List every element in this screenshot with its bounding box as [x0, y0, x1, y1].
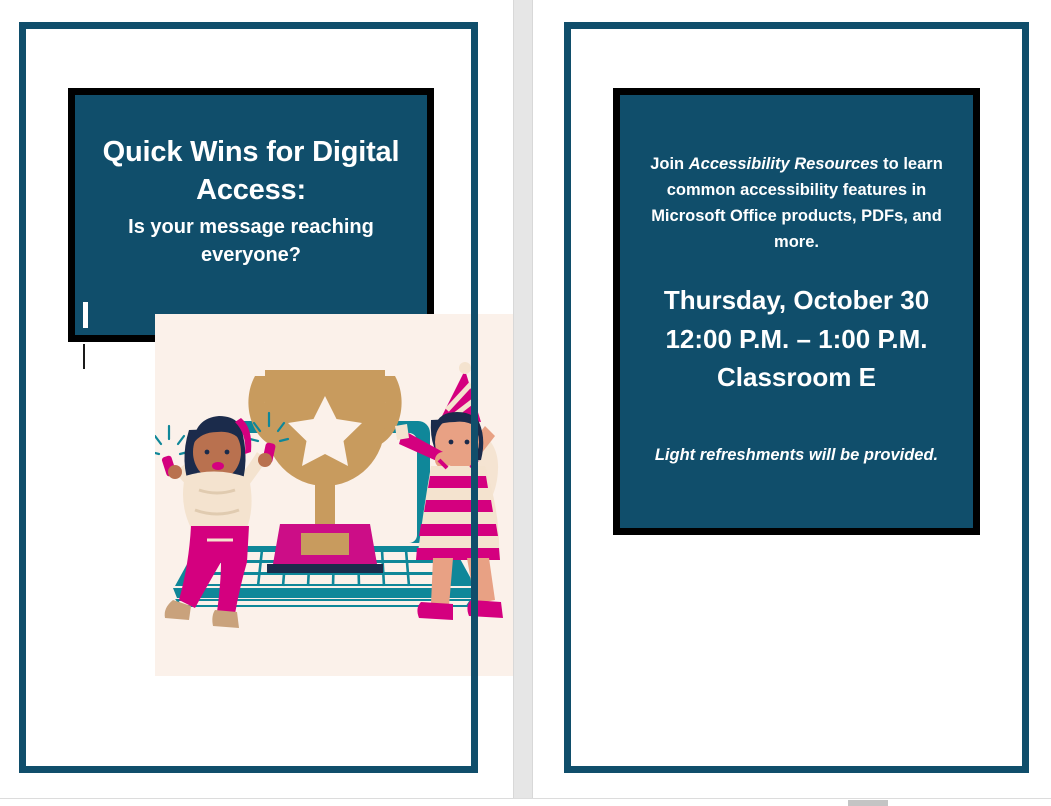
title-heading: Quick Wins for Digital Access:	[89, 133, 413, 211]
text-caret-in-title	[83, 302, 88, 328]
page-left[interactable]: Quick Wins for Digital Access: Is your m…	[0, 0, 513, 798]
celebration-illustration[interactable]	[155, 314, 513, 676]
title-text-block[interactable]: Quick Wins for Digital Access: Is your m…	[68, 88, 434, 342]
title-subheading: Is your message reaching everyone?	[89, 214, 413, 269]
celebration-illustration-svg	[155, 314, 513, 676]
event-date: Thursday, October 30	[636, 281, 957, 319]
event-refreshments-note: Light refreshments will be provided.	[636, 443, 957, 468]
page-gutter	[513, 0, 533, 798]
event-time: 12:00 P.M. – 1:00 P.M.	[636, 320, 957, 358]
event-info-block[interactable]: Join Accessibility Resources to learn co…	[613, 88, 980, 535]
horizontal-scrollbar-thumb[interactable]	[848, 800, 888, 806]
page-border-left-overlap	[471, 314, 478, 676]
document-canvas: Quick Wins for Digital Access: Is your m…	[0, 0, 1051, 806]
event-organizer-name: Accessibility Resources	[689, 155, 879, 173]
event-description: Join Accessibility Resources to learn co…	[636, 151, 957, 255]
event-location: Classroom E	[636, 358, 957, 396]
page-right[interactable]: Join Accessibility Resources to learn co…	[533, 0, 1051, 798]
event-when-where: Thursday, October 30 12:00 P.M. – 1:00 P…	[636, 281, 957, 396]
event-description-intro: Join	[650, 155, 689, 173]
text-caret-body	[83, 344, 85, 369]
horizontal-scrollbar[interactable]	[0, 798, 1051, 806]
